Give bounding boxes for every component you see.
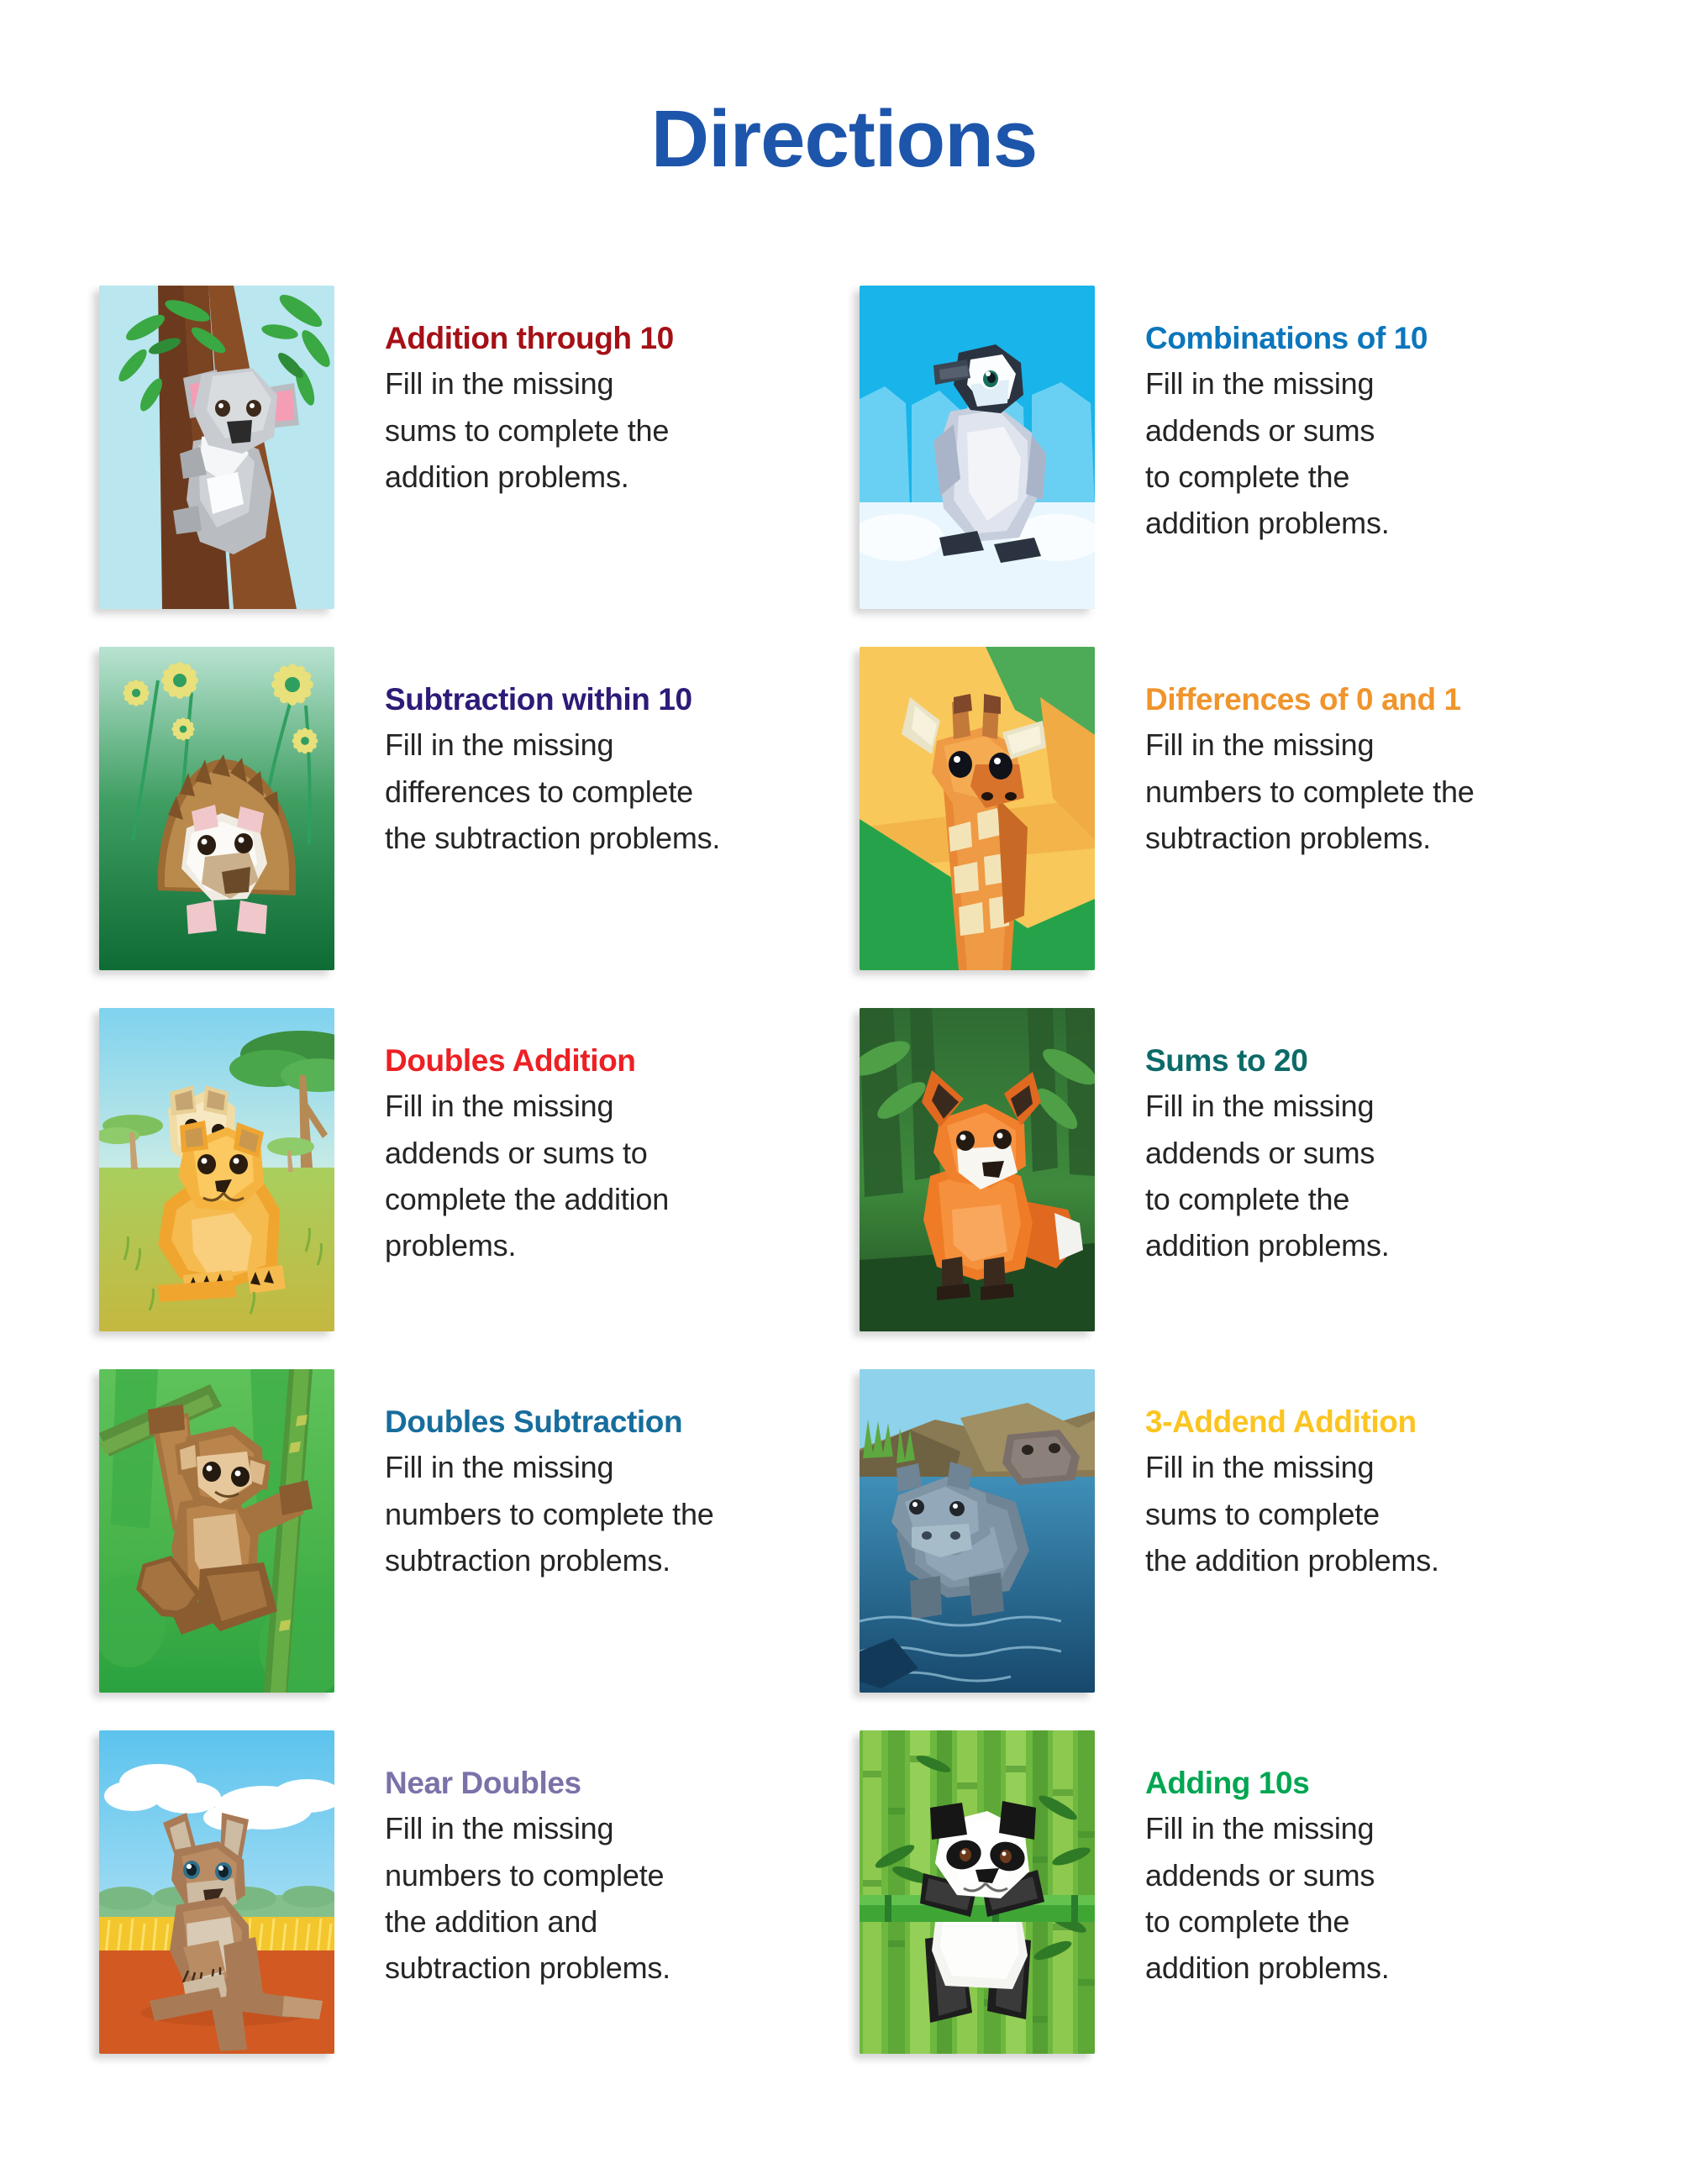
- item-description: Fill in the missing sums to complete the…: [1145, 1444, 1582, 1583]
- thumbnail-wrapper: [860, 1000, 1095, 1331]
- page-title: Directions: [0, 0, 1688, 180]
- item-title: Doubles Subtraction: [385, 1404, 843, 1439]
- direction-item: Doubles Subtraction Fill in the missing …: [99, 1361, 843, 1722]
- item-title: Near Doubles: [385, 1766, 843, 1800]
- item-title: Subtraction within 10: [385, 682, 843, 717]
- direction-item: Subtraction within 10 Fill in the missin…: [99, 638, 843, 1000]
- item-title: Addition through 10: [385, 321, 843, 355]
- thumbnail-wrapper: [99, 1722, 334, 2054]
- item-title: 3-Addend Addition: [1145, 1404, 1603, 1439]
- direction-item: Adding 10s Fill in the missing addends o…: [860, 1722, 1603, 2083]
- text-column: Differences of 0 and 1 Fill in the missi…: [1095, 638, 1603, 861]
- thumbnail-wrapper: [99, 277, 334, 609]
- text-column: Addition through 10 Fill in the missing …: [334, 277, 843, 500]
- thumbnail-wrapper: [860, 1361, 1095, 1693]
- item-description: Fill in the missing differences to compl…: [385, 722, 822, 860]
- text-column: Near Doubles Fill in the missing numbers…: [334, 1722, 843, 1991]
- item-title: Doubles Addition: [385, 1043, 843, 1078]
- direction-item: Sums to 20 Fill in the missing addends o…: [860, 1000, 1603, 1361]
- kangaroo-illustration: [99, 1730, 334, 2054]
- item-title: Sums to 20: [1145, 1043, 1603, 1078]
- direction-item: Near Doubles Fill in the missing numbers…: [99, 1722, 843, 2083]
- directions-page: Directions: [0, 0, 1688, 2184]
- item-description: Fill in the missing numbers to complete …: [385, 1444, 822, 1583]
- text-column: Doubles Addition Fill in the missing add…: [334, 1000, 843, 1268]
- penguin-illustration: [860, 286, 1095, 609]
- item-description: Fill in the missing numbers to complete …: [1145, 722, 1582, 860]
- item-title: Differences of 0 and 1: [1145, 682, 1603, 717]
- item-description: Fill in the missing sums to complete the…: [385, 360, 822, 499]
- item-title: Adding 10s: [1145, 1766, 1603, 1800]
- thumbnail-wrapper: [99, 1361, 334, 1693]
- text-column: Sums to 20 Fill in the missing addends o…: [1095, 1000, 1603, 1268]
- item-description: Fill in the missing addends or sums to c…: [1145, 1805, 1582, 1990]
- lion-cubs-illustration: [99, 1008, 334, 1331]
- direction-item: Doubles Addition Fill in the missing add…: [99, 1000, 843, 1361]
- text-column: 3-Addend Addition Fill in the missing su…: [1095, 1361, 1603, 1583]
- thumbnail-wrapper: [860, 1722, 1095, 2054]
- thumbnail-wrapper: [860, 277, 1095, 609]
- item-description: Fill in the missing numbers to complete …: [385, 1805, 822, 1990]
- direction-item: Differences of 0 and 1 Fill in the missi…: [860, 638, 1603, 1000]
- panda-illustration: [860, 1730, 1095, 2054]
- monkey-illustration: [99, 1369, 334, 1693]
- text-column: Adding 10s Fill in the missing addends o…: [1095, 1722, 1603, 1991]
- text-column: Doubles Subtraction Fill in the missing …: [334, 1361, 843, 1583]
- hippo-illustration: [860, 1369, 1095, 1693]
- item-description: Fill in the missing addends or sums to c…: [385, 1083, 822, 1268]
- thumbnail-wrapper: [99, 1000, 334, 1331]
- thumbnail-wrapper: [99, 638, 334, 970]
- directions-grid: Addition through 10 Fill in the missing …: [99, 277, 1603, 2083]
- item-description: Fill in the missing addends or sums to c…: [1145, 360, 1582, 545]
- koala-illustration: [99, 286, 334, 609]
- direction-item: 3-Addend Addition Fill in the missing su…: [860, 1361, 1603, 1722]
- item-description: Fill in the missing addends or sums to c…: [1145, 1083, 1582, 1268]
- giraffe-illustration: [860, 647, 1095, 970]
- text-column: Subtraction within 10 Fill in the missin…: [334, 638, 843, 861]
- direction-item: Combinations of 10 Fill in the missing a…: [860, 277, 1603, 638]
- direction-item: Addition through 10 Fill in the missing …: [99, 277, 843, 638]
- text-column: Combinations of 10 Fill in the missing a…: [1095, 277, 1603, 546]
- fox-illustration: [860, 1008, 1095, 1331]
- hedgehog-illustration: [99, 647, 334, 970]
- thumbnail-wrapper: [860, 638, 1095, 970]
- item-title: Combinations of 10: [1145, 321, 1603, 355]
